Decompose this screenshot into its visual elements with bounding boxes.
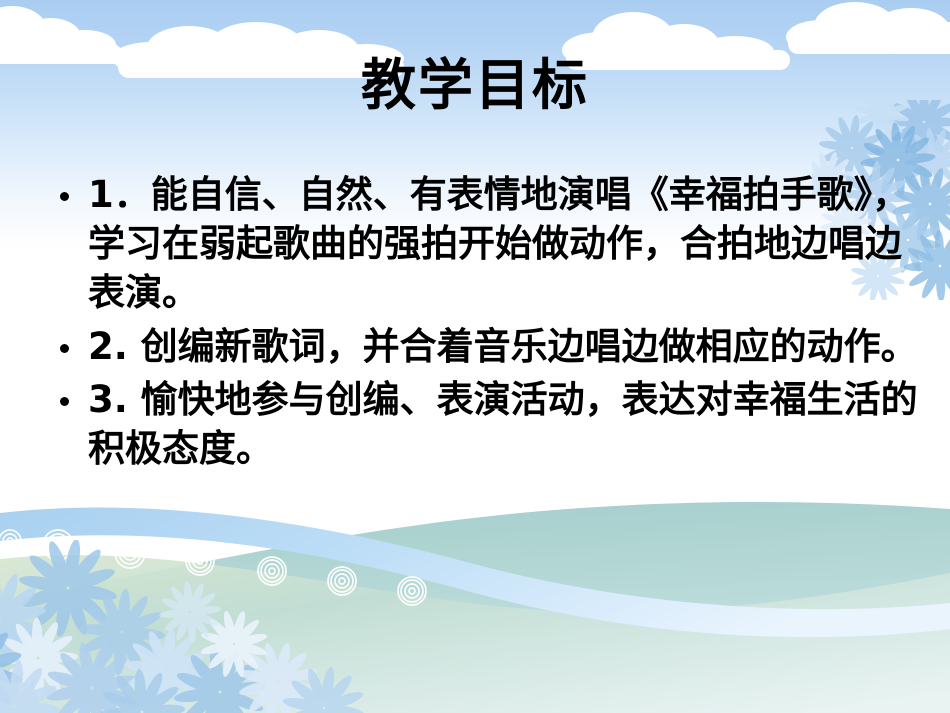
wave-band-green — [0, 555, 950, 713]
bullet-dot-icon — [60, 192, 69, 201]
wave-band-teal — [0, 502, 950, 713]
bullet-dot-icon — [60, 344, 69, 353]
spiral-decorations — [0, 530, 426, 605]
list-item-text: 1．能自信、自然、有表情地演唱《幸福拍手歌》，学习在弱起歌曲的强拍开始做动作，合… — [88, 170, 932, 318]
bullet-dot-icon — [60, 397, 69, 406]
slide-canvas: 教学目标 1．能自信、自然、有表情地演唱《幸福拍手歌》，学习在弱起歌曲的强拍开始… — [0, 0, 950, 713]
wave-band-spiral — [0, 508, 950, 638]
list-item: 1．能自信、自然、有表情地演唱《幸福拍手歌》，学习在弱起歌曲的强拍开始做动作，合… — [52, 170, 932, 318]
list-item: 3. 愉快地参与创编、表演活动，表达对幸福生活的积极态度。 — [52, 375, 932, 473]
list-item-text: 2. 创编新歌词，并合着音乐边唱边做相应的动作。 — [88, 322, 932, 371]
objectives-list: 1．能自信、自然、有表情地演唱《幸福拍手歌》，学习在弱起歌曲的强拍开始做动作，合… — [52, 170, 932, 477]
page-title: 教学目标 — [0, 56, 950, 114]
flower-cluster-bottom-left — [0, 540, 450, 713]
list-item-text: 3. 愉快地参与创编、表演活动，表达对幸福生活的积极态度。 — [88, 375, 932, 473]
list-item: 2. 创编新歌词，并合着音乐边唱边做相应的动作。 — [52, 322, 932, 371]
wave-band-group — [0, 453, 950, 713]
